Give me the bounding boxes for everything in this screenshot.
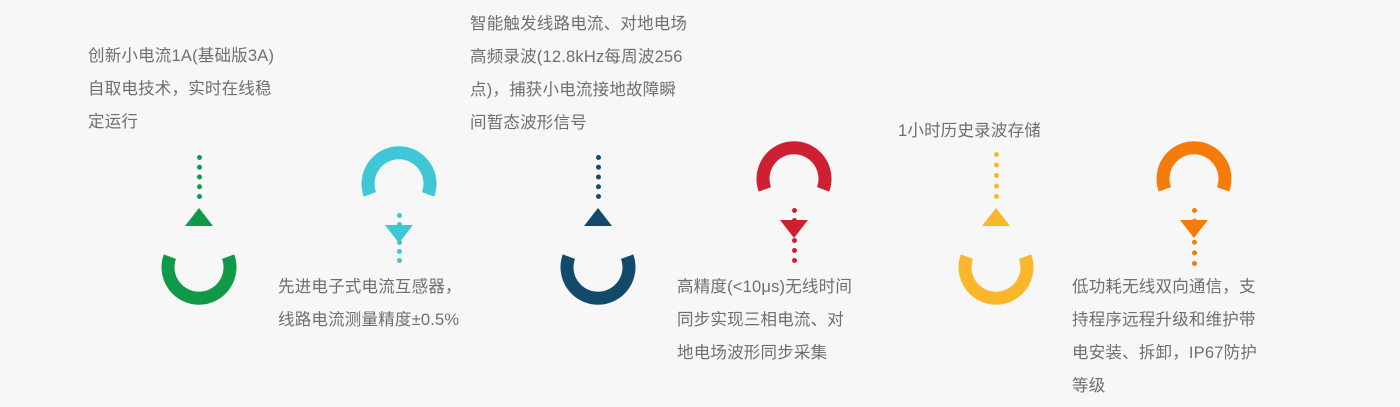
connector-line-self-powered <box>197 155 202 199</box>
feature-caption-ct-accuracy: 先进电子式电流互感器， 线路电流测量精度±0.5% <box>278 271 528 337</box>
connector-line-hf-recording <box>596 155 601 199</box>
antenna-ring-down-icon-time-sync <box>748 158 840 250</box>
feature-caption-time-sync: 高精度(<10μs)无线时间 同步实现三相电流、对 地电场波形同步采集 <box>677 271 917 370</box>
features-diagram: 创新小电流1A(基础版3A) 自取电技术，实时在线稳 定运行先进电子式电流互感器… <box>0 0 1400 407</box>
feature-caption-hf-recording: 智能触发线路电流、对地电场 高频录波(12.8kHz每周波256 点)，捕获小电… <box>470 8 752 140</box>
antenna-ring-down-icon-wireless-comm <box>1148 158 1240 250</box>
antenna-ring-up-icon-history-storage <box>950 196 1042 288</box>
feature-caption-wireless-comm: 低功耗无线双向通信，支 持程序远程升级和维护带 电安装、拆卸，IP67防护 等级 <box>1072 271 1322 403</box>
antenna-ring-up-icon-self-powered <box>153 196 245 288</box>
connector-line-history-storage <box>994 152 999 199</box>
antenna-ring-down-icon-ct-accuracy <box>353 163 445 255</box>
feature-caption-history-storage: 1小时历史录波存储 <box>898 115 1118 148</box>
feature-caption-self-powered: 创新小电流1A(基础版3A) 自取电技术，实时在线稳 定运行 <box>88 40 336 139</box>
antenna-ring-up-icon-hf-recording <box>552 196 644 288</box>
